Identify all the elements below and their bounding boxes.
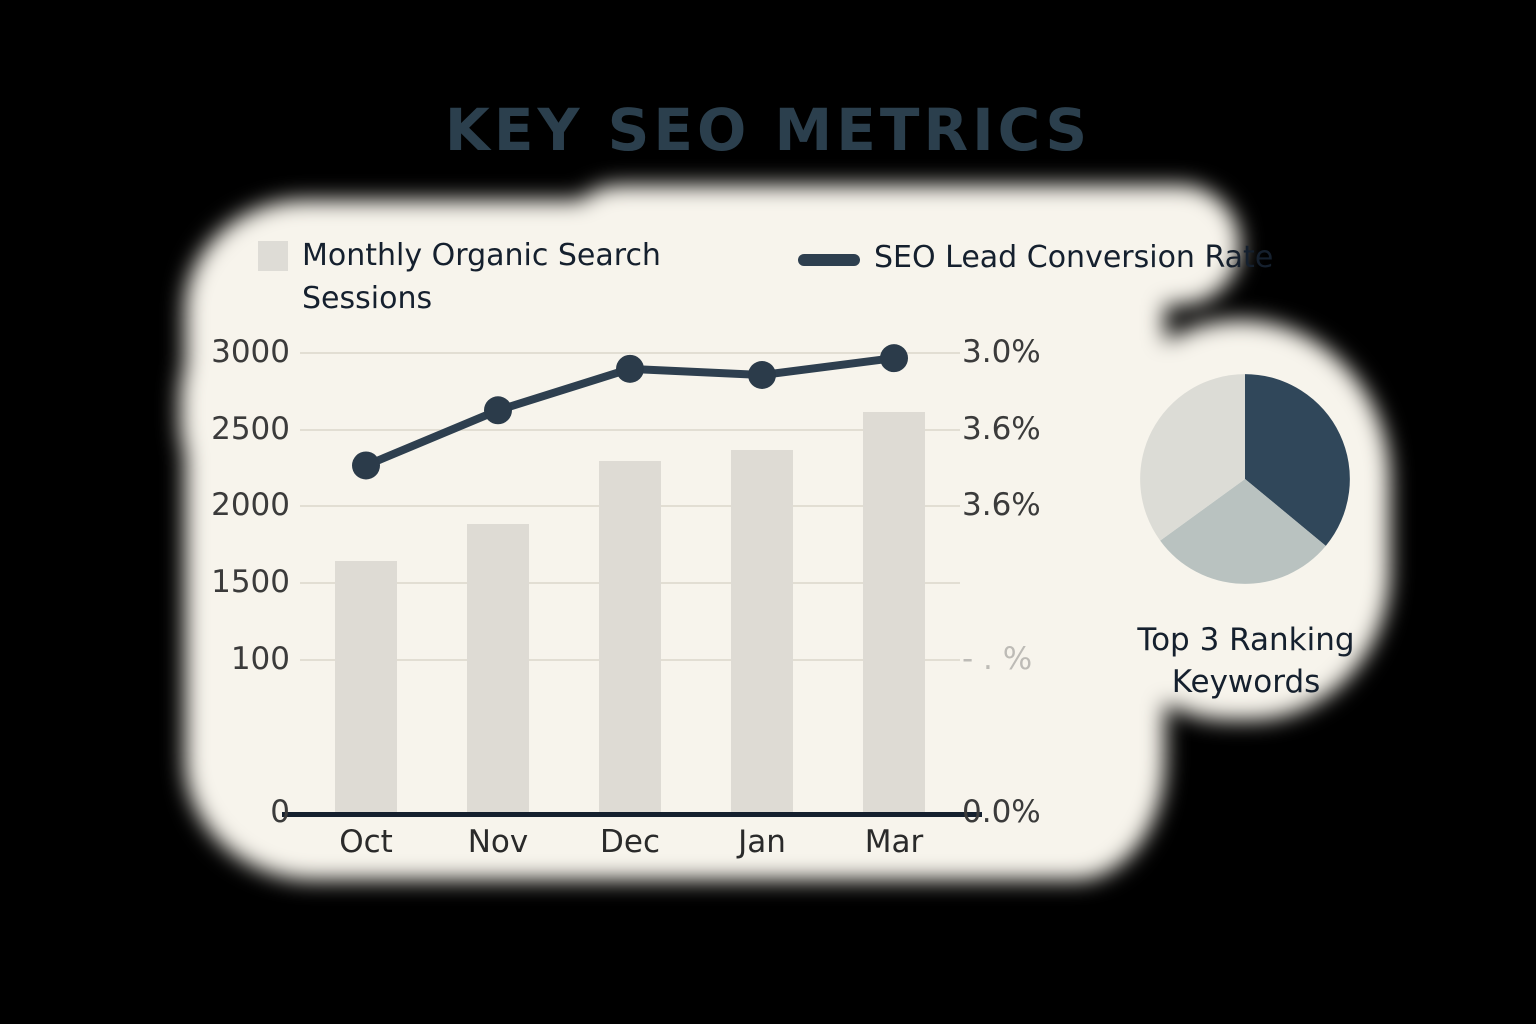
y-axis-right-tick: - . % — [962, 641, 1082, 677]
y-axis-left-tick: 2000 — [194, 487, 290, 523]
y-axis-right-tick: 3.6% — [962, 411, 1082, 447]
bar[interactable] — [335, 561, 397, 812]
bar[interactable] — [467, 524, 529, 812]
line-swatch-icon — [798, 254, 860, 266]
legend-item-line[interactable]: SEO Lead Conversion Rate — [798, 237, 1273, 280]
pie-chart[interactable] — [1138, 372, 1352, 586]
pie-slices — [1138, 372, 1352, 586]
pie-label-line1: Top 3 Ranking — [1100, 620, 1392, 662]
page-title: KEY SEO METRICS — [0, 96, 1536, 164]
x-axis-tick: Oct — [296, 824, 436, 860]
y-axis-left-tick: 100 — [194, 641, 290, 677]
square-swatch-icon — [258, 241, 288, 271]
x-axis-tick: Mar — [824, 824, 964, 860]
x-axis-tick: Dec — [560, 824, 700, 860]
pie-label-line2: Keywords — [1100, 662, 1392, 704]
gridline — [300, 352, 960, 354]
y-axis-right-tick: 3.0% — [962, 334, 1082, 370]
y-axis-left-tick: 3000 — [194, 334, 290, 370]
y-axis-left-tick: 0 — [194, 794, 290, 830]
chart-legend: Monthly Organic Search Sessions SEO Lead… — [258, 235, 1268, 330]
pie-chart-label: Top 3 Ranking Keywords — [1100, 620, 1392, 704]
bar[interactable] — [731, 450, 793, 812]
y-axis-left-tick: 2500 — [194, 411, 290, 447]
x-axis-tick: Jan — [692, 824, 832, 860]
legend-item-bars[interactable]: Monthly Organic Search Sessions — [258, 235, 728, 320]
combo-chart-plot-area — [300, 352, 960, 812]
x-axis-tick: Nov — [428, 824, 568, 860]
y-axis-right-tick: 3.6% — [962, 487, 1082, 523]
bar[interactable] — [863, 412, 925, 812]
legend-item-line-label: SEO Lead Conversion Rate — [874, 237, 1273, 280]
y-axis-right-tick: 0.0% — [962, 794, 1082, 830]
slide-canvas: KEY SEO METRICS Monthly Organic Search S… — [0, 0, 1536, 1024]
gridline — [300, 429, 960, 431]
slide-content: KEY SEO METRICS Monthly Organic Search S… — [0, 0, 1536, 1024]
y-axis-left-tick: 1500 — [194, 564, 290, 600]
legend-item-bars-label: Monthly Organic Search Sessions — [302, 235, 722, 320]
x-axis-line — [282, 812, 982, 817]
bar[interactable] — [599, 461, 661, 812]
